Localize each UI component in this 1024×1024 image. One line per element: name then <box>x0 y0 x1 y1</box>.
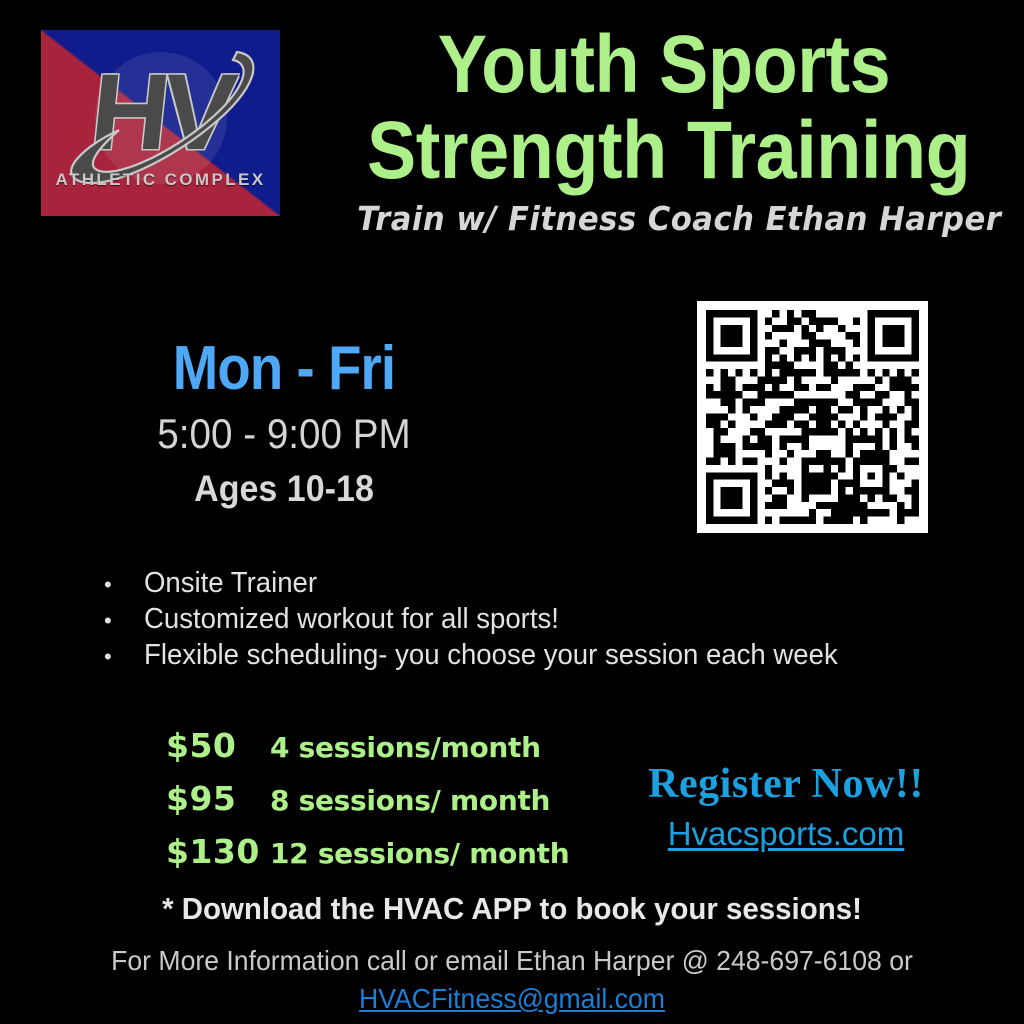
list-item: • Onsite Trainer <box>104 568 964 600</box>
table-row: $130 12 sessions/ month <box>166 834 636 872</box>
price-amount: $130 <box>166 834 270 870</box>
feature-text: Customized workout for all sports! <box>144 604 559 635</box>
pricing-table: $50 4 sessions/month $95 8 sessions/ mon… <box>166 728 636 887</box>
headline-line-2: Strength Training <box>367 108 961 194</box>
register-website-link[interactable]: Hvacsports.com <box>668 814 905 854</box>
contact-line: For More Information call or email Ethan… <box>26 942 999 980</box>
feature-text: Flexible scheduling- you choose your ses… <box>144 640 838 671</box>
schedule-time: 5:00 - 9:00 PM <box>115 408 454 460</box>
register-heading: Register Now!! <box>636 760 936 808</box>
register-group: Register Now!! Hvacsports.com <box>636 760 936 854</box>
headline-line-1: Youth Sports <box>367 22 961 108</box>
feature-text: Onsite Trainer <box>144 568 317 599</box>
qr-code-icon[interactable] <box>706 310 919 524</box>
app-download-note: * Download the HVAC APP to book your ses… <box>26 890 999 928</box>
logo-tagline: ATHLETIC COMPLEX <box>41 170 280 190</box>
qr-code-panel[interactable] <box>697 301 928 533</box>
table-row: $50 4 sessions/month <box>166 728 636 766</box>
price-description: 4 sessions/month <box>270 730 541 766</box>
headline-group: Youth Sports Strength Training Train w/ … <box>334 22 994 240</box>
bullet-icon: • <box>104 569 144 600</box>
bullet-icon: • <box>104 641 144 672</box>
price-description: 12 sessions/ month <box>270 836 569 872</box>
features-list: • Onsite Trainer • Customized workout fo… <box>104 568 964 676</box>
footer-group: * Download the HVAC APP to book your ses… <box>0 890 1024 1018</box>
price-description: 8 sessions/ month <box>270 783 550 819</box>
flyer-canvas: HV ATHLETIC COMPLEX Youth Sports Strengt… <box>0 0 1024 1024</box>
table-row: $95 8 sessions/ month <box>166 781 636 819</box>
logo-monogram: HV <box>41 58 280 166</box>
headline-subtitle: Train w/ Fitness Coach Ethan Harper <box>357 198 971 240</box>
schedule-days: Mon - Fri <box>122 336 446 402</box>
schedule-group: Mon - Fri 5:00 - 9:00 PM Ages 10-18 <box>100 336 468 512</box>
bullet-icon: • <box>104 605 144 636</box>
hvac-logo: HV ATHLETIC COMPLEX <box>41 30 280 216</box>
list-item: • Customized workout for all sports! <box>104 604 964 636</box>
list-item: • Flexible scheduling- you choose your s… <box>104 640 964 672</box>
price-amount: $50 <box>166 728 270 764</box>
contact-email-link[interactable]: HVACFitness@gmail.com <box>359 980 665 1018</box>
price-amount: $95 <box>166 781 270 817</box>
schedule-ages: Ages 10-18 <box>115 466 454 512</box>
